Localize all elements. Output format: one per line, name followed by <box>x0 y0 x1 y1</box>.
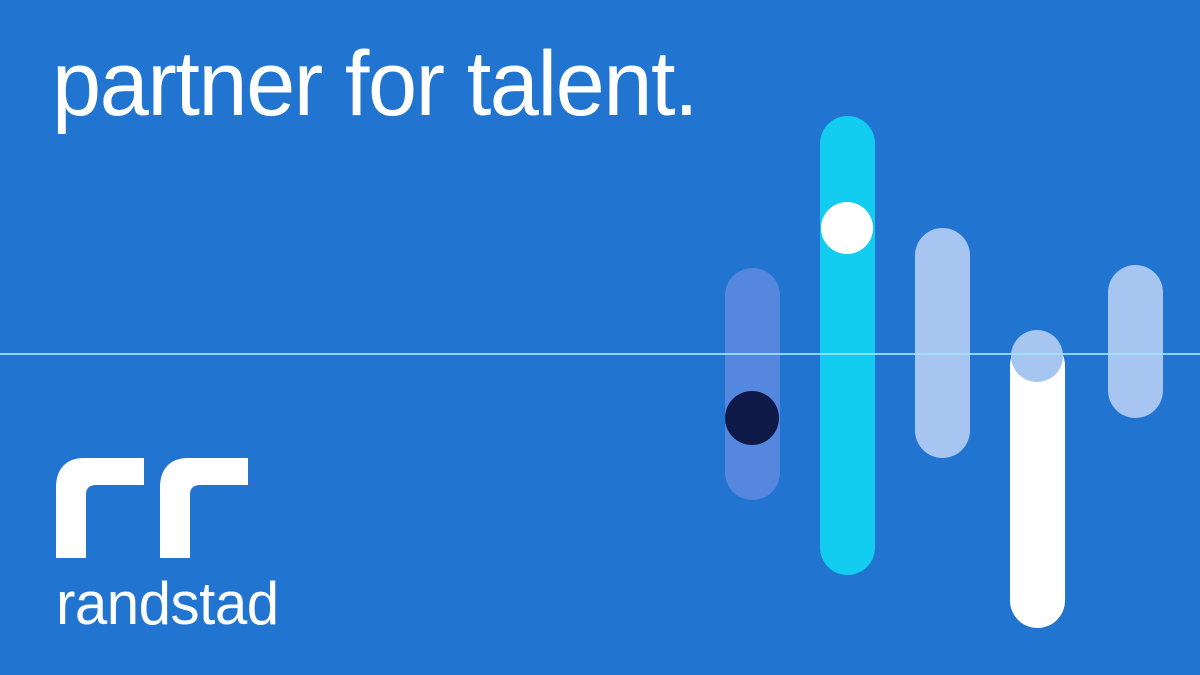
baseline-rule <box>0 353 1200 355</box>
bar-5 <box>1108 265 1163 418</box>
bar-2 <box>820 116 875 575</box>
brand-lockup: randstad <box>56 458 286 634</box>
randstad-y-logo-icon <box>56 458 248 558</box>
marker-navy <box>725 391 779 445</box>
brand-wordmark: randstad <box>56 574 279 634</box>
bar-3 <box>915 228 970 458</box>
marker-light-blue <box>1011 330 1063 382</box>
bar-1 <box>725 268 780 500</box>
marker-white <box>821 202 873 254</box>
poster-canvas: partner for talent. randstad <box>0 0 1200 675</box>
